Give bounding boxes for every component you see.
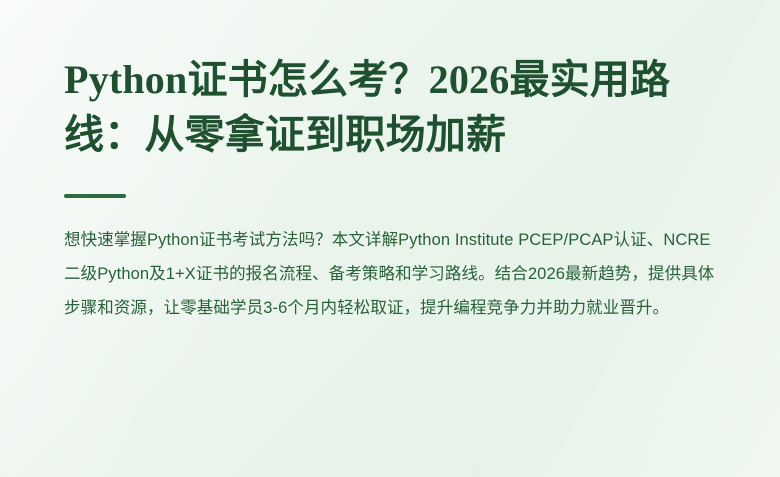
title-divider	[64, 194, 126, 198]
hero-content: Python证书怎么考？2026最实用路线：从零拿证到职场加薪 想快速掌握Pyt…	[0, 0, 780, 326]
article-hero-card: Python证书怎么考？2026最实用路线：从零拿证到职场加薪 想快速掌握Pyt…	[0, 0, 780, 477]
page-title: Python证书怎么考？2026最实用路线：从零拿证到职场加薪	[64, 52, 716, 162]
article-summary: 想快速掌握Python证书考试方法吗？本文详解Python Institute …	[64, 224, 716, 325]
